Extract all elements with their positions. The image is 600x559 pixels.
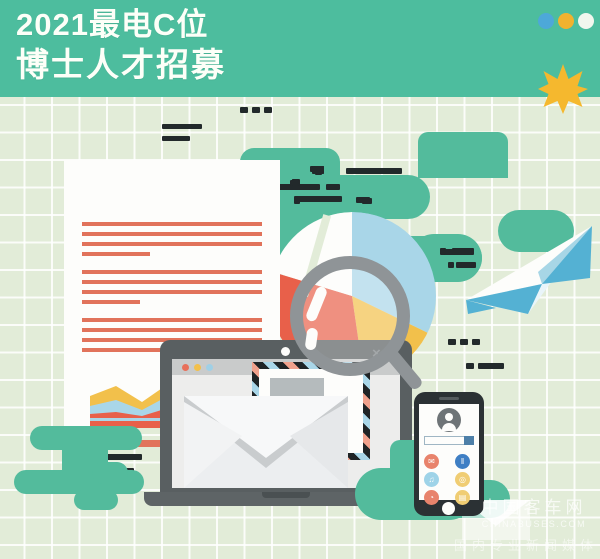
doc-text-line (82, 280, 262, 284)
chart-app-glyph: ‖ (455, 454, 470, 469)
header-banner: 2021最电C位 博士人才招募 (0, 0, 600, 97)
browser-minimize-dot[interactable] (194, 364, 201, 371)
doc-text-line (82, 222, 262, 226)
dash-mark-b9 (292, 180, 299, 186)
page-title: 2021最电C位 博士人才招募 (16, 5, 226, 85)
dash-mark-1 (346, 168, 402, 174)
doc-text-line (82, 300, 140, 304)
dash-mark-right7 (448, 339, 456, 345)
laptop-camera (281, 347, 290, 356)
phone-home-button[interactable] (442, 502, 455, 515)
doc-text-line (82, 242, 262, 246)
dash-mark-top1 (240, 107, 248, 113)
dash-mark-g (362, 198, 372, 204)
decor-blob-top-right (418, 132, 508, 178)
phone-speaker (439, 397, 459, 400)
poster-root: × ✉ ‖ ♫ ◎ ◔ ▤ 中国客车网 CHINABUS (0, 0, 600, 559)
dash-mark-right5 (440, 248, 446, 254)
doc-text-line (82, 232, 262, 236)
paper-plane-icon (466, 222, 598, 318)
music-app-glyph: ♫ (424, 472, 439, 487)
page-title-line-2: 博士人才招募 (16, 45, 226, 85)
cloud-app-glyph: ◔ (424, 490, 439, 505)
header-dot-white (578, 13, 594, 29)
dash-mark-15 (314, 166, 324, 172)
envelope-icon (184, 396, 348, 488)
decor-blob-left-5 (74, 490, 118, 510)
browser-maximize-dot[interactable] (206, 364, 213, 371)
watermark-chinese: 中国客车网 (468, 498, 600, 518)
dash-mark-c (294, 196, 342, 202)
doc-text-line (82, 328, 262, 332)
header-dot-yellow (558, 13, 574, 29)
doc-text-line (82, 252, 150, 256)
doc-text-line (82, 318, 262, 322)
watermark-latin: CHINABUSES.COM (468, 518, 600, 530)
dash-mark-f (162, 136, 190, 141)
dash-mark-right10 (478, 363, 504, 369)
mail-app-glyph: ✉ (424, 454, 439, 469)
decor-blob-left-4 (92, 462, 128, 484)
header-dot-blue (538, 13, 554, 29)
avatar-head (445, 413, 453, 421)
doc-text-line (82, 270, 262, 274)
watermark-tagline: 国内专业新闻媒体 (452, 535, 600, 554)
watermark: 中国客车网 CHINABUSES.COM (468, 498, 600, 530)
dash-mark-right11 (466, 363, 474, 369)
dash-mark-right9 (472, 339, 480, 345)
dash-mark-top2 (252, 107, 260, 113)
doc-text-line (82, 290, 262, 294)
dash-mark-b2 (326, 184, 340, 190)
target-app-glyph: ◎ (455, 472, 470, 487)
dash-mark-e (162, 124, 202, 129)
browser-close-dot[interactable] (182, 364, 189, 371)
search-icon[interactable] (464, 436, 474, 445)
dash-mark-right8 (460, 339, 468, 345)
laptop-base-notch (262, 492, 310, 498)
dash-mark-right3 (448, 262, 454, 268)
dash-mark-top3 (264, 107, 272, 113)
page-title-line-1: 2021最电C位 (16, 5, 226, 45)
avatar-body (442, 423, 456, 431)
